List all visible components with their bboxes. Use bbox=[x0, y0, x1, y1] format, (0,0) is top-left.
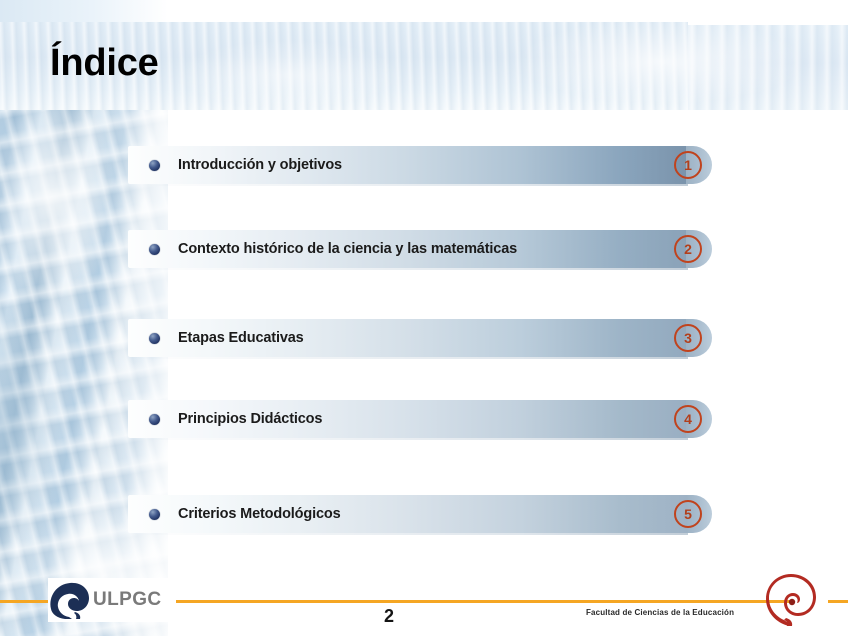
index-item-label: Etapas Educativas bbox=[178, 319, 304, 357]
bullet-sphere-icon bbox=[149, 509, 160, 520]
ulpgc-spiral-icon bbox=[48, 579, 92, 621]
index-item-number-badge: 5 bbox=[674, 500, 702, 528]
faculty-label: Facultad de Ciencias de la Educación bbox=[586, 608, 734, 617]
footer-rule-center bbox=[168, 600, 794, 603]
index-item-2[interactable]: Contexto histórico de la ciencia y las m… bbox=[128, 230, 712, 268]
index-item-number-badge: 4 bbox=[674, 405, 702, 433]
index-item-5[interactable]: Criterios Metodológicos 5 bbox=[128, 495, 712, 533]
index-item-3[interactable]: Etapas Educativas 3 bbox=[128, 319, 712, 357]
index-item-label: Contexto histórico de la ciencia y las m… bbox=[178, 230, 517, 268]
index-item-label: Criterios Metodológicos bbox=[178, 495, 341, 533]
index-item-label: Introducción y objetivos bbox=[178, 146, 342, 184]
index-item-4[interactable]: Principios Didácticos 4 bbox=[128, 400, 712, 438]
page-number: 2 bbox=[362, 606, 416, 627]
index-list: Introducción y objetivos 1 Contexto hist… bbox=[0, 0, 848, 636]
index-item-number-badge: 3 bbox=[674, 324, 702, 352]
index-item-number-badge: 2 bbox=[674, 235, 702, 263]
index-item-1[interactable]: Introducción y objetivos 1 bbox=[128, 146, 712, 184]
ulpgc-logo: ULPGC bbox=[48, 578, 176, 622]
bullet-sphere-icon bbox=[149, 333, 160, 344]
faculty-spiral-icon bbox=[762, 572, 820, 628]
bullet-sphere-icon bbox=[149, 160, 160, 171]
bullet-sphere-icon bbox=[149, 414, 160, 425]
slide-canvas: Índice Introducción y objetivos 1 Contex… bbox=[0, 0, 848, 636]
bullet-sphere-icon bbox=[149, 244, 160, 255]
index-item-label: Principios Didácticos bbox=[178, 400, 322, 438]
index-item-number-badge: 1 bbox=[674, 151, 702, 179]
footer-rule-right bbox=[828, 600, 848, 603]
ulpgc-label: ULPGC bbox=[93, 589, 162, 611]
